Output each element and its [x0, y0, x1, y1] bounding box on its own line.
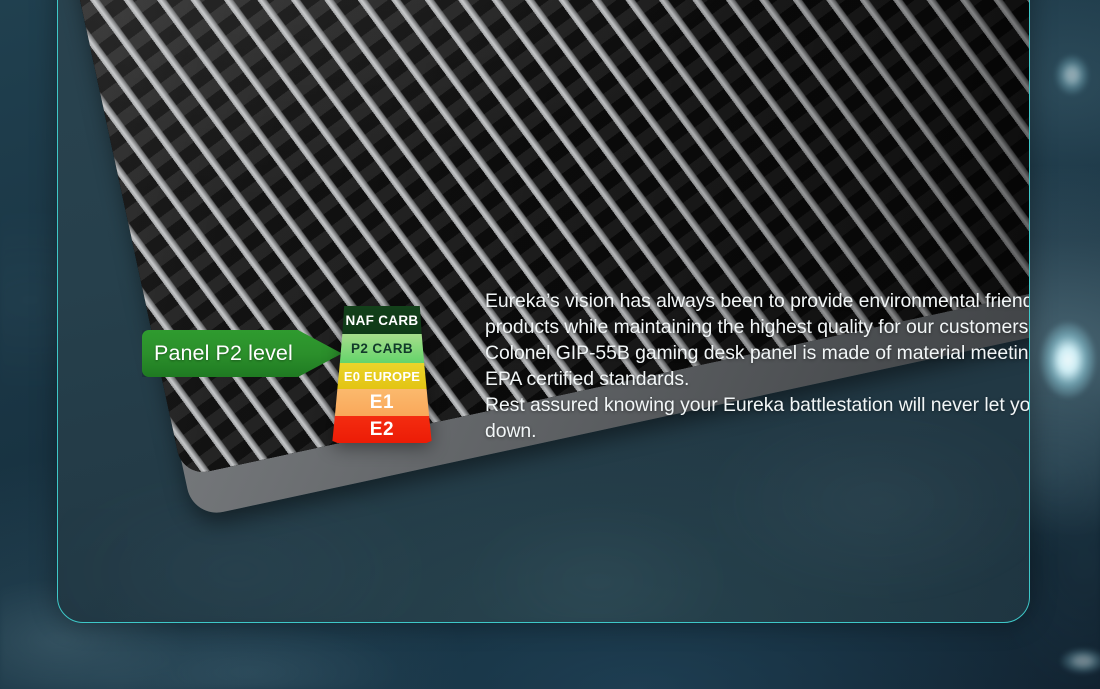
desk-panel-illustration: [57, 0, 1030, 561]
star-glow-icon: [1055, 55, 1089, 95]
star-glow-icon: [1060, 648, 1100, 674]
copy-paragraph-1: Eureka’s vision has always been to provi…: [485, 289, 1030, 341]
emission-level-pyramid: NAF CARB P2 CARB E0 EUROPE E1 E2: [320, 306, 444, 443]
emission-level-e0-europe: E0 EUROPE: [320, 363, 444, 389]
emission-level-naf-carb: NAF CARB: [320, 306, 444, 334]
star-glow-icon: [1040, 322, 1096, 398]
marketing-copy: Eureka’s vision has always been to provi…: [485, 289, 1030, 444]
product-feature-banner: Panel P2 level NAF CARB P2 CARB E0 EUROP…: [0, 0, 1100, 689]
emission-level-e1: E1: [320, 389, 444, 416]
panel-level-badge-label: Panel P2 level: [142, 341, 293, 366]
copy-paragraph-2: Colonel GIP-55B gaming desk panel is mad…: [485, 341, 1030, 393]
copy-paragraph-3: Rest assured knowing your Eureka battles…: [485, 393, 1030, 445]
emission-level-p2-carb: P2 CARB: [320, 334, 444, 363]
emission-level-e2: E2: [320, 416, 444, 443]
feature-card: Panel P2 level NAF CARB P2 CARB E0 EUROP…: [57, 0, 1030, 623]
